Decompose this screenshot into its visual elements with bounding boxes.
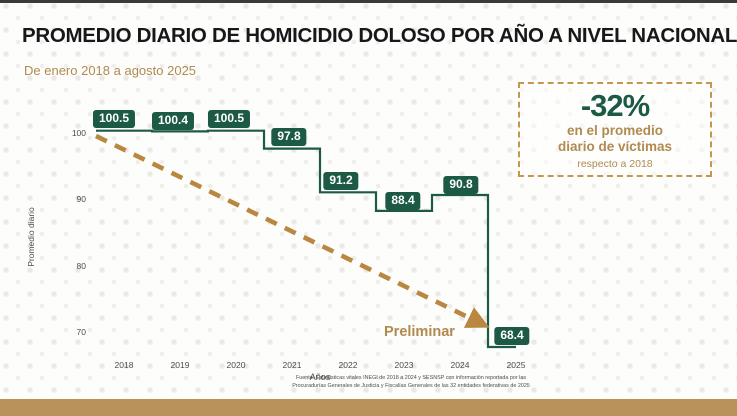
xtick-label-2019: 2019 [157, 360, 203, 370]
data-label-2022: 91.2 [323, 172, 358, 190]
source-line-2: Procuradurías Generales de Justicia y Fi… [292, 383, 530, 389]
ytick-label-70: 70 [60, 327, 86, 337]
data-label-2018: 100.5 [93, 110, 135, 128]
top-rule [0, 0, 737, 3]
callout-line-2: diario de víctimas [520, 139, 710, 155]
step-series-line [96, 131, 516, 347]
xtick-label-2025: 2025 [493, 360, 539, 370]
page-title: PROMEDIO DIARIO DE HOMICIDIO DOLOSO POR … [22, 24, 712, 48]
ytick-label-100: 100 [60, 128, 86, 138]
source-line-1: Fuente: Estadísticas vitales INEGI de 20… [296, 375, 526, 381]
slide-canvas: PROMEDIO DIARIO DE HOMICIDIO DOLOSO POR … [0, 0, 737, 416]
xtick-label-2023: 2023 [381, 360, 427, 370]
xtick-label-2022: 2022 [325, 360, 371, 370]
data-label-2025: 68.4 [494, 327, 529, 345]
callout-box: -32% en el promedio diario de víctimas r… [518, 82, 712, 177]
xtick-label-2020: 2020 [213, 360, 259, 370]
callout-line-1: en el promedio [520, 123, 710, 139]
callout-percent: -32% [520, 90, 710, 123]
data-label-2021: 97.8 [271, 128, 306, 146]
page-subtitle: De enero 2018 a agosto 2025 [24, 63, 196, 78]
callout-line-3: respecto a 2018 [520, 158, 710, 170]
source-note: Fuente: Estadísticas vitales INEGI de 20… [276, 374, 546, 390]
y-axis-title: Promedio diario [26, 192, 36, 282]
data-label-2020: 100.5 [208, 110, 250, 128]
data-label-2023: 88.4 [385, 192, 420, 210]
xtick-label-2018: 2018 [101, 360, 147, 370]
bottom-band [0, 399, 737, 416]
ytick-label-90: 90 [60, 194, 86, 204]
trend-arrow [96, 136, 478, 322]
ytick-label-80: 80 [60, 261, 86, 271]
data-label-2019: 100.4 [152, 112, 194, 130]
data-label-2024: 90.8 [443, 176, 478, 194]
preliminary-annotation: Preliminar [384, 324, 455, 340]
xtick-label-2021: 2021 [269, 360, 315, 370]
xtick-label-2024: 2024 [437, 360, 483, 370]
